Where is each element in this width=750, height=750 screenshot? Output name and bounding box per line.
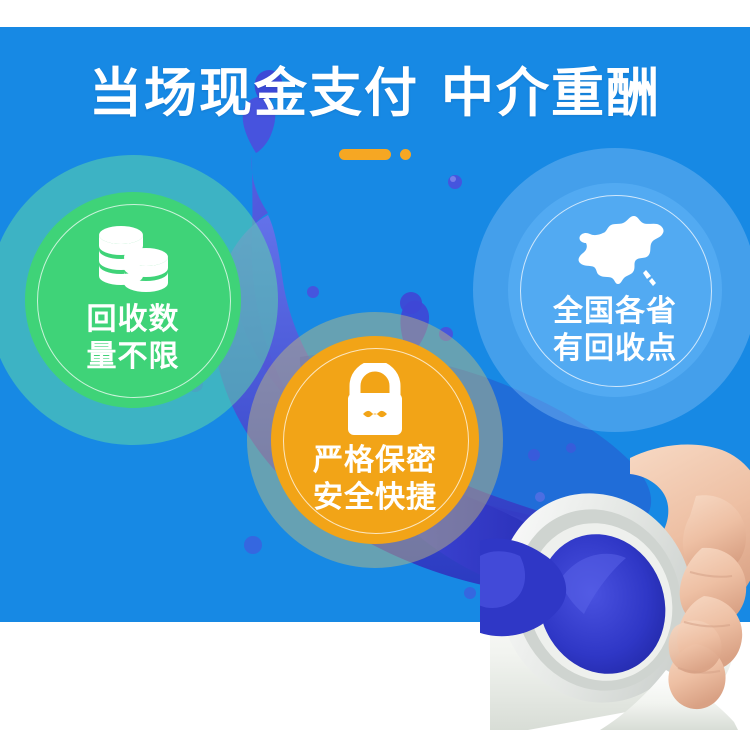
feature-label-line2: 安全快捷 — [313, 480, 437, 517]
divider-bar — [339, 149, 391, 160]
feature-nationwide-points[interactable]: 全国各省 有回收点 — [473, 148, 750, 432]
headline-left: 当场现金支付 — [89, 64, 419, 123]
feature-recycle-quantity[interactable]: 回收数 量不限 — [0, 155, 278, 445]
padlock-icon — [342, 363, 408, 437]
feature-disc: 全国各省 有回收点 — [508, 183, 722, 397]
feature-disc: 回收数 量不限 — [25, 192, 241, 408]
coin-stack-icon — [91, 224, 175, 296]
feature-label-line1: 严格保密 — [313, 443, 437, 480]
banner-headline: 当场现金支付中介重酬 — [0, 66, 750, 122]
headline-right: 中介重酬 — [441, 64, 661, 123]
feature-disc: 严格保密 安全快捷 — [271, 336, 479, 544]
feature-label-line1: 回收数 — [87, 302, 180, 339]
feature-confidential-fast[interactable]: 严格保密 安全快捷 — [247, 312, 503, 568]
divider-dot — [400, 149, 411, 160]
feature-label-line2: 量不限 — [87, 339, 180, 376]
promo-banner: 当场现金支付中介重酬 回收数 量不限 — [0, 0, 750, 750]
feature-label-line1: 全国各省 — [553, 294, 677, 331]
feature-label-line2: 有回收点 — [553, 331, 677, 368]
china-map-icon — [560, 212, 670, 288]
